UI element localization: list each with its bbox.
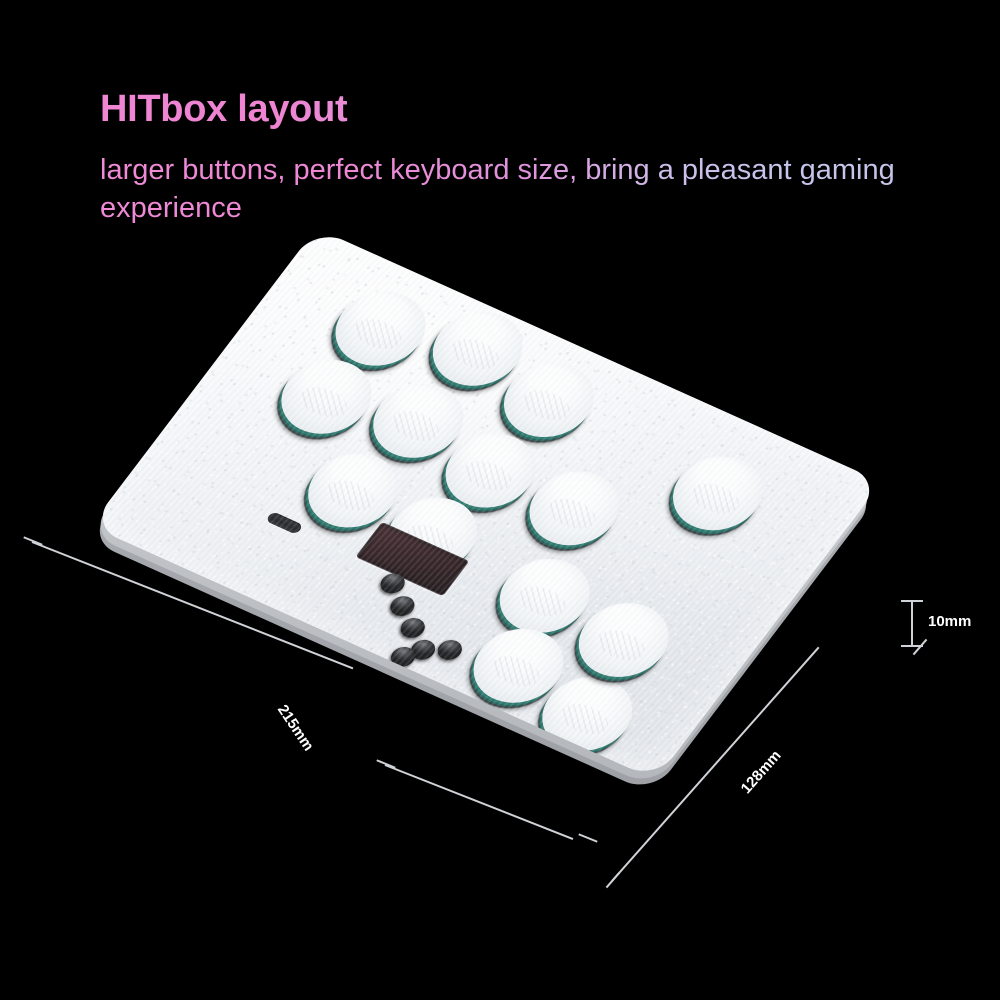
dimension-cap-front-edge-start xyxy=(376,759,395,768)
function-button-4[interactable] xyxy=(406,636,439,663)
button-l3[interactable] xyxy=(487,350,612,449)
button-l7[interactable] xyxy=(512,459,637,558)
button-l6[interactable] xyxy=(428,421,553,520)
button-r1[interactable] xyxy=(656,444,781,543)
dimension-label-215mm: 215mm xyxy=(274,702,317,754)
controller-top-panel xyxy=(90,228,882,780)
button-l2[interactable] xyxy=(415,299,540,398)
thickness-caliper-bottom-cap xyxy=(901,645,923,647)
oled-display xyxy=(355,522,469,597)
thickness-caliper-top-cap xyxy=(901,600,923,602)
function-button-2[interactable] xyxy=(386,593,419,620)
usb-c-port[interactable] xyxy=(265,511,303,535)
arcade-controller-body xyxy=(90,228,882,780)
dimension-cap-215mm-start xyxy=(23,536,42,545)
function-button-1[interactable] xyxy=(376,570,409,597)
function-button-5[interactable] xyxy=(433,637,466,664)
dimension-cap-front-edge-end xyxy=(578,833,597,842)
thickness-caliper-bar xyxy=(911,601,913,647)
button-l9[interactable] xyxy=(370,485,495,584)
button-l5[interactable] xyxy=(356,371,481,470)
dimension-line-front-edge xyxy=(385,764,574,840)
product-image-canvas: HITbox layout larger buttons, perfect ke… xyxy=(0,0,1000,1000)
dimension-cap-128mm-end xyxy=(913,639,928,655)
dimension-label-10mm: 10mm xyxy=(928,613,971,630)
function-button-3[interactable] xyxy=(396,615,429,642)
button-r2[interactable] xyxy=(482,546,607,645)
dimension-cap-128mm-start xyxy=(606,872,621,888)
button-r4[interactable] xyxy=(525,664,650,763)
product-photo: 215mm 128mm 10mm xyxy=(0,0,1000,1000)
dimension-label-128mm: 128mm xyxy=(738,747,785,797)
button-r5[interactable] xyxy=(561,590,686,689)
button-l1[interactable] xyxy=(318,279,443,378)
button-l4[interactable] xyxy=(264,347,389,446)
button-l8[interactable] xyxy=(291,441,416,540)
